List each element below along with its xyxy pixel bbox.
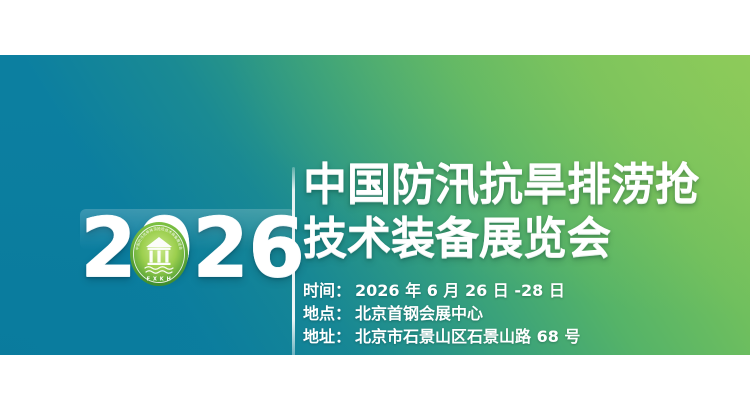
headline-line-2: 技术装备展览会 xyxy=(303,213,750,265)
event-info-list: 时间：2026 年 6 月 26 日 -28 日 地点：北京首钢会展中心 地址：… xyxy=(303,279,750,348)
info-label-time: 时间： xyxy=(303,281,351,300)
headline-line-1: 中国防汛抗旱排涝抢 xyxy=(303,159,750,211)
info-line-venue: 地点：北京首钢会展中心 xyxy=(303,302,750,325)
info-value-address: 北京市石景山区石景山路 68 号 xyxy=(355,327,580,346)
poster-canvas: 2026 xyxy=(0,0,750,410)
organization-emblem-logo: 中国防汛抗旱排涝抢险技术装备展览会 F X K H xyxy=(128,220,190,288)
info-line-address: 地址：北京市石景山区石景山路 68 号 xyxy=(303,325,750,348)
banner-text-column: 中国防汛抗旱排涝抢 技术装备展览会 时间：2026 年 6 月 26 日 -28… xyxy=(303,159,750,348)
info-value-venue: 北京首钢会展中心 xyxy=(355,304,483,323)
vertical-divider xyxy=(292,167,295,355)
year-text: 2026 xyxy=(80,205,304,293)
event-banner: 2026 xyxy=(0,55,750,355)
info-label-address: 地址： xyxy=(303,327,351,346)
info-line-time: 时间：2026 年 6 月 26 日 -28 日 xyxy=(303,279,750,302)
emblem-acronym: F X K H xyxy=(147,277,172,283)
info-label-venue: 地点： xyxy=(303,304,351,323)
info-value-time: 2026 年 6 月 26 日 -28 日 xyxy=(355,281,565,300)
